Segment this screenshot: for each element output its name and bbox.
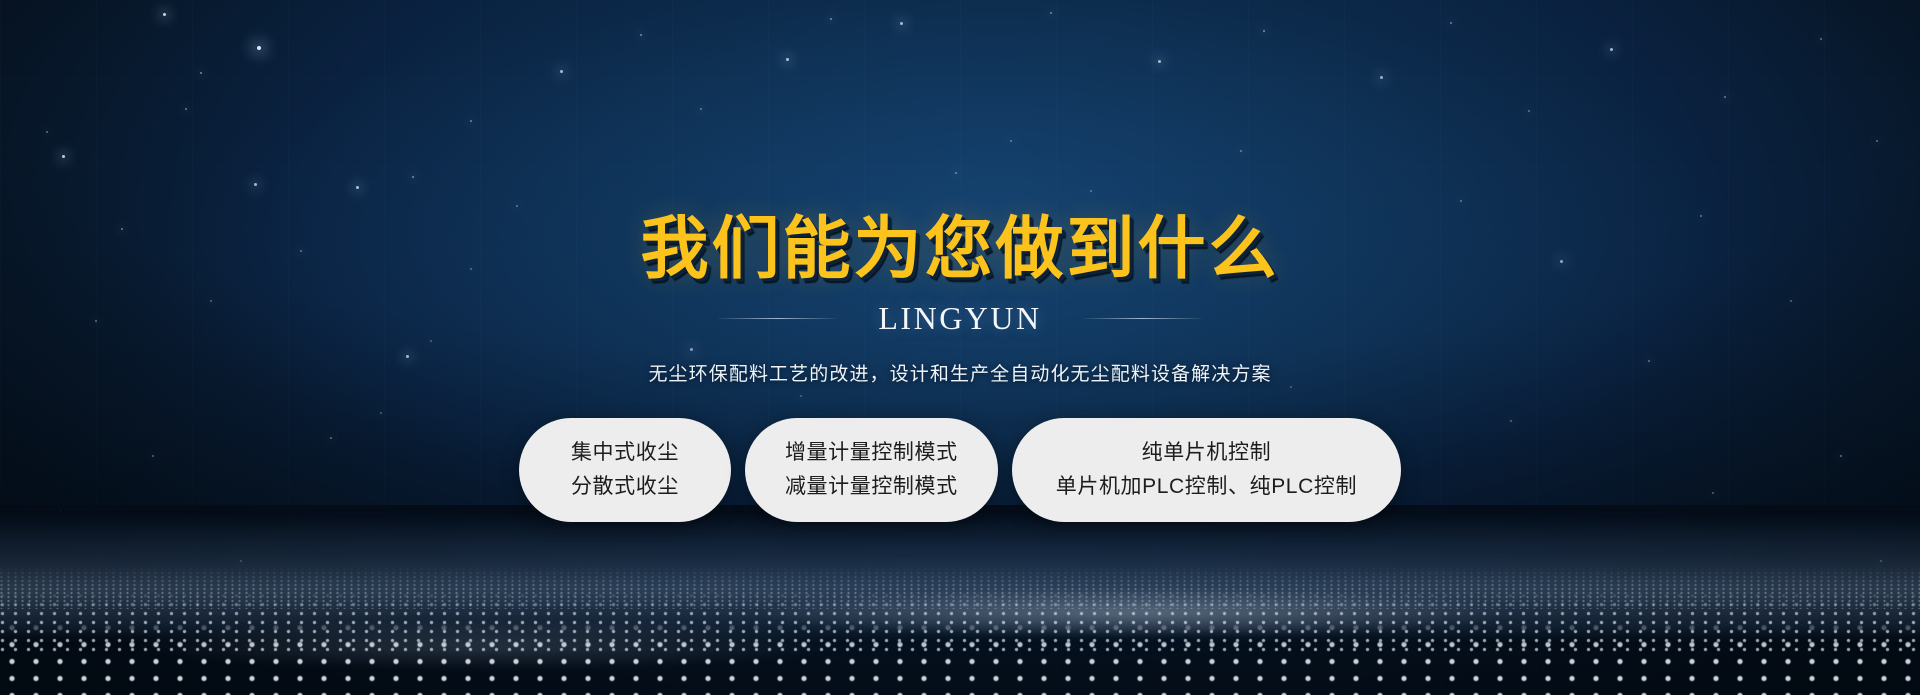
- subtitle: 无尘环保配料工艺的改进，设计和生产全自动化无尘配料设备解决方案: [648, 359, 1271, 386]
- divider-left: [718, 318, 836, 319]
- hero-banner: 我们能为您做到什么 LINGYUN 无尘环保配料工艺的改进，设计和生产全自动化无…: [0, 0, 1920, 695]
- brand-eyebrow: LINGYUN: [718, 300, 1201, 337]
- feature-pill-control-system[interactable]: 纯单片机控制 单片机加PLC控制、纯PLC控制: [1012, 418, 1401, 522]
- hero-content: 我们能为您做到什么 LINGYUN 无尘环保配料工艺的改进，设计和生产全自动化无…: [0, 0, 1920, 695]
- divider-right: [1084, 318, 1202, 319]
- feature-pill-metering-mode[interactable]: 增量计量控制模式 减量计量控制模式: [745, 418, 998, 522]
- feature-pill-line: 分散式收尘: [571, 474, 679, 500]
- feature-pill-line: 纯单片机控制: [1142, 440, 1272, 466]
- feature-pill-line: 集中式收尘: [571, 440, 679, 466]
- feature-pill-line: 减量计量控制模式: [785, 474, 958, 500]
- feature-pill-dust-collection[interactable]: 集中式收尘 分散式收尘: [519, 418, 731, 522]
- feature-pill-line: 单片机加PLC控制、纯PLC控制: [1056, 474, 1357, 500]
- page-title: 我们能为您做到什么: [640, 215, 1279, 283]
- feature-pill-row: 集中式收尘 分散式收尘 增量计量控制模式 减量计量控制模式 纯单片机控制 单片机…: [519, 418, 1401, 522]
- brand-name: LINGYUN: [878, 300, 1041, 337]
- feature-pill-line: 增量计量控制模式: [785, 440, 958, 466]
